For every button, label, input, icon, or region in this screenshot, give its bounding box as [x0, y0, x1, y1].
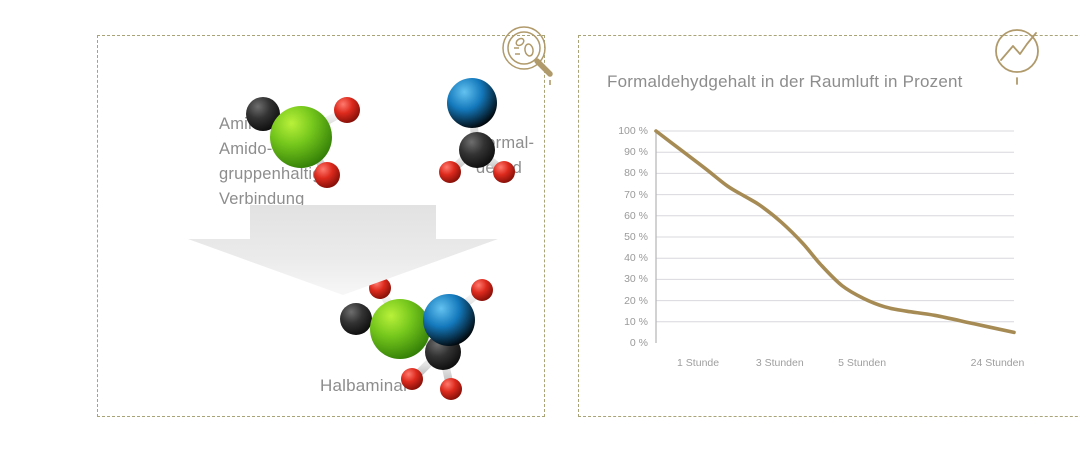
x-axis-tick: 3 Stunden [756, 357, 804, 369]
screenshot-root: Amino- bzw. Amido- gruppenhaltige Verbin… [0, 0, 1080, 462]
chart-title: Formaldehydgehalt in der Raumluft in Pro… [607, 72, 963, 92]
x-axis-tick: 5 Stunden [838, 357, 886, 369]
molecule-amino-compound [235, 82, 365, 192]
x-axis-tick: 24 Stunden [971, 357, 1025, 369]
x-axis-labels: 1 Stunde3 Stunden5 Stunden24 Stunden [600, 118, 1020, 383]
x-axis-tick: 1 Stunde [677, 357, 719, 369]
trend-chart-circle-icon [990, 24, 1052, 86]
magnifier-molecule-icon [500, 24, 562, 86]
down-arrow-shape [188, 205, 498, 295]
line-chart: 100 %90 %80 %70 %60 %50 %40 %30 %20 %10 … [600, 118, 1020, 383]
